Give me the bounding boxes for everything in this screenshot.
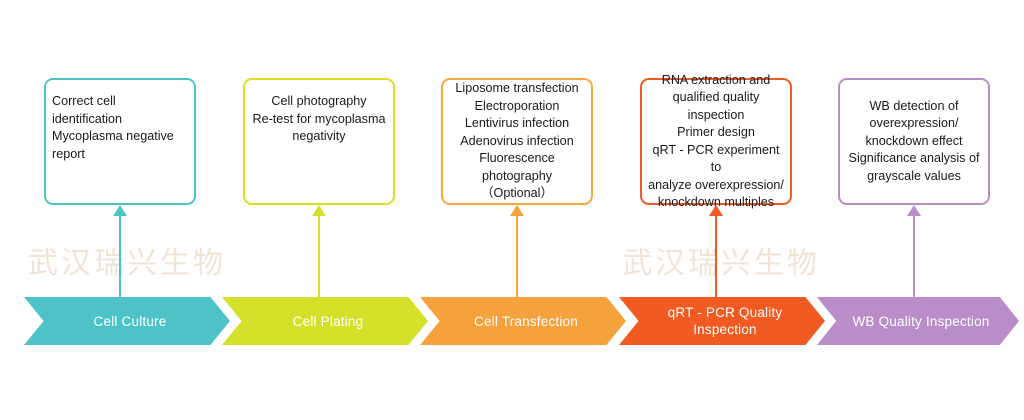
connector-arrowhead-icon: [510, 205, 524, 216]
detail-box-text: Cell photography Re-test for mycoplasma …: [247, 93, 392, 146]
detail-box-text: RNA extraction and qualified quality ins…: [642, 72, 790, 212]
workflow-diagram: 武汉瑞兴生物 武汉瑞兴生物 Correct cell identificatio…: [0, 0, 1024, 420]
watermark-text-left: 武汉瑞兴生物: [28, 238, 226, 282]
connector-shaft: [715, 213, 717, 300]
connector-arrow-up-icon: [113, 205, 127, 300]
connector-arrow-up-icon: [907, 205, 921, 300]
stage-banner-label: Cell Culture: [88, 313, 167, 330]
detail-box-qrt-pcr-quality-inspection: RNA extraction and qualified quality ins…: [640, 78, 792, 205]
connector-shaft: [516, 213, 518, 300]
connector-arrowhead-icon: [312, 205, 326, 216]
stage-banner-label: Cell Plating: [287, 313, 364, 330]
connector-shaft: [318, 213, 320, 300]
connector-shaft: [119, 213, 121, 300]
connector-arrow-up-icon: [312, 205, 326, 300]
stage-banner-qrt-pcr-quality-inspection[interactable]: qRT - PCR Quality Inspection: [619, 297, 825, 345]
stage-banner-cell-transfection[interactable]: Cell Transfection: [420, 297, 626, 345]
detail-box-text: WB detection of overexpression/ knockdow…: [843, 98, 986, 186]
stage-banner-cell-culture[interactable]: Cell Culture: [24, 297, 230, 345]
connector-arrow-up-icon: [510, 205, 524, 300]
stage-banner-label: WB Quality Inspection: [846, 313, 989, 330]
connector-arrowhead-icon: [113, 205, 127, 216]
connector-arrowhead-icon: [907, 205, 921, 216]
detail-box-text: Liposome transfection Electroporation Le…: [443, 80, 591, 203]
stage-banner-cell-plating[interactable]: Cell Plating: [222, 297, 428, 345]
connector-arrow-up-icon: [709, 205, 723, 300]
detail-box-cell-culture: Correct cell identification Mycoplasma n…: [44, 78, 196, 205]
stage-banner-label: Cell Transfection: [468, 313, 578, 330]
stage-banner-wb-quality-inspection[interactable]: WB Quality Inspection: [817, 297, 1019, 345]
connector-arrowhead-icon: [709, 205, 723, 216]
detail-box-cell-plating: Cell photography Re-test for mycoplasma …: [243, 78, 395, 205]
connector-shaft: [913, 213, 915, 300]
stage-banner-label: qRT - PCR Quality Inspection: [662, 304, 783, 338]
detail-box-text: Correct cell identification Mycoplasma n…: [46, 93, 194, 163]
detail-box-cell-transfection: Liposome transfection Electroporation Le…: [441, 78, 593, 205]
detail-box-wb-quality-inspection: WB detection of overexpression/ knockdow…: [838, 78, 990, 205]
